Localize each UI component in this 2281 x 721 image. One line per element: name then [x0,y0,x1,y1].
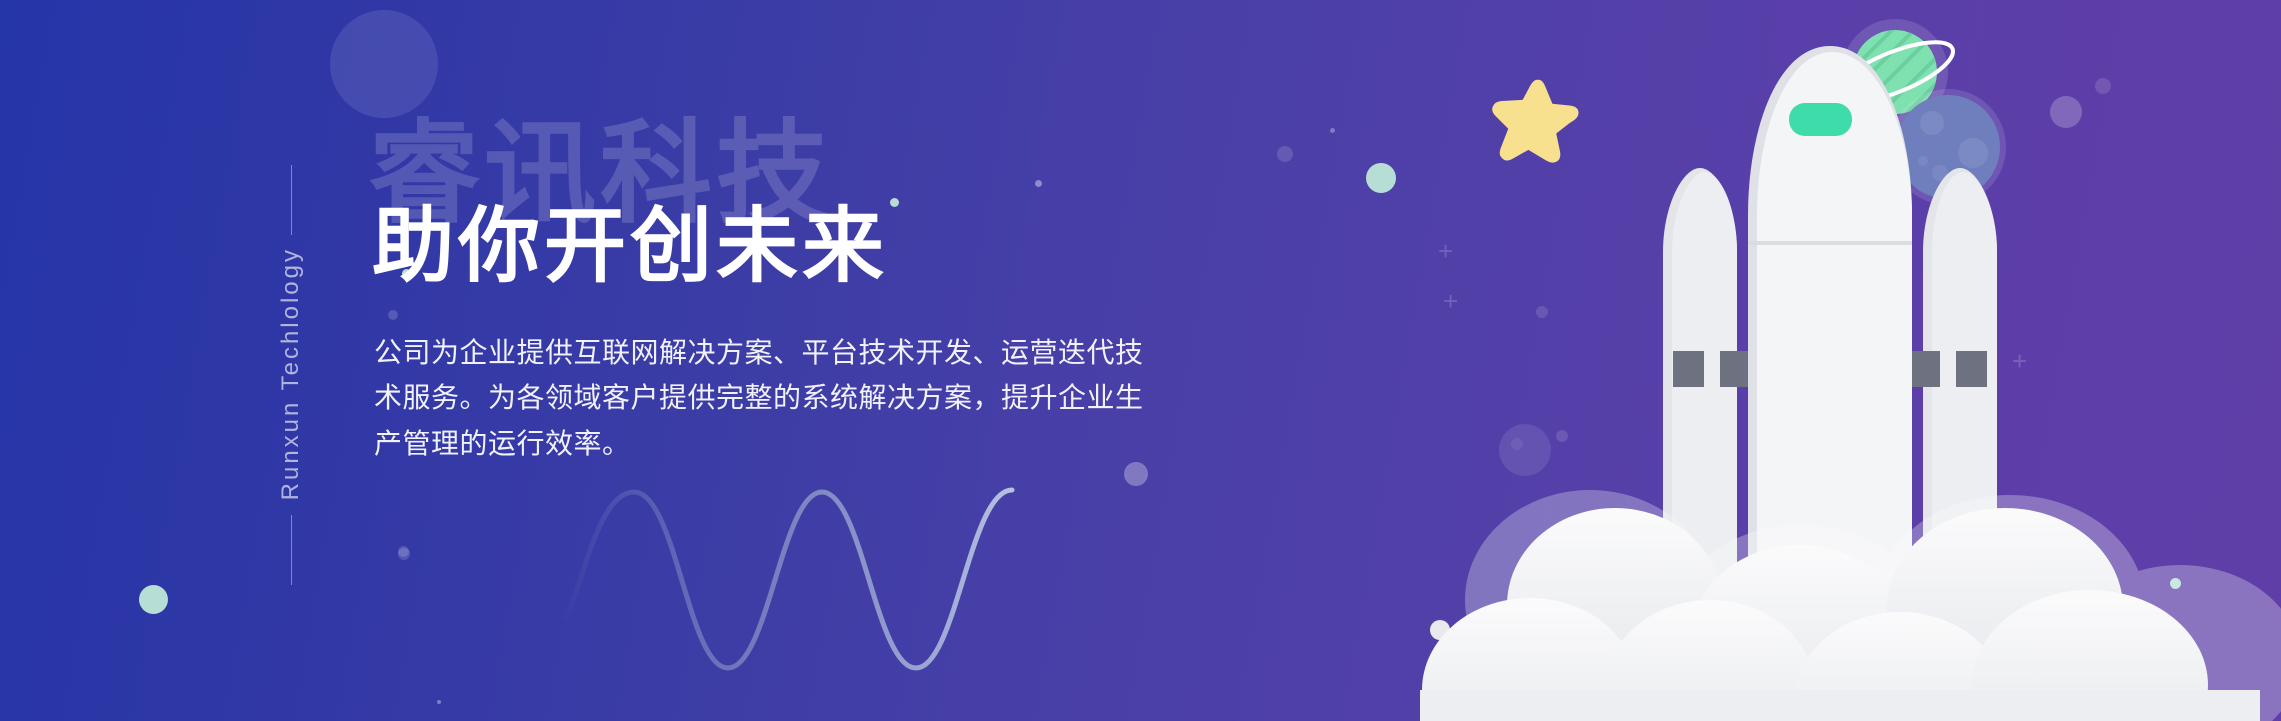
bg-dot-purple-lowleft [398,548,410,560]
bg-dot-mint-left [139,585,168,614]
bg-dot-gray-1 [388,310,398,320]
brand-vertical-text: Runxun Techlology [277,247,305,500]
page-title: 助你开创未来 [372,204,888,290]
brand-rule-top [291,165,292,235]
rocket-icon [1380,0,2281,721]
bg-dot-mint-small-2 [890,198,899,207]
hero-banner: + + + + + [0,0,2281,721]
bg-dot-purple-mid [1277,146,1293,162]
bg-circle-large-blue [330,10,438,118]
bg-dot-tiny-1 [437,700,441,704]
brand-rule-bottom [291,515,292,585]
sine-wave-icon [560,460,1200,690]
bg-dot-tiny-2 [1330,128,1335,133]
vertical-brand-block: Runxun Techlology [268,165,314,585]
rocket-window-icon [1789,103,1852,136]
bg-dot-purple-left [398,546,409,557]
hero-description: 公司为企业提供互联网解决方案、平台技术开发、运营迭代技术服务。为各领域客户提供完… [374,330,1164,466]
bg-dot-white-1 [1035,180,1042,187]
